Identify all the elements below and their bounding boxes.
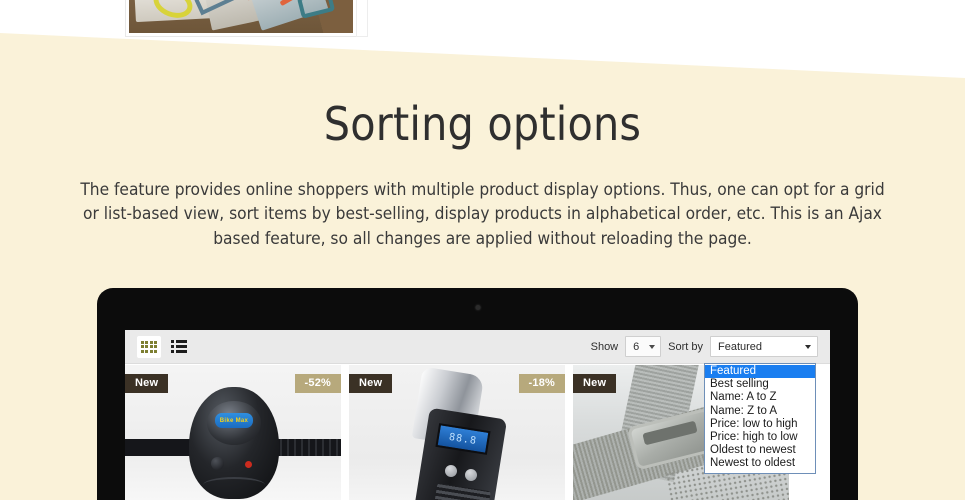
- show-count-value: 6: [633, 341, 639, 353]
- sort-option-name-a-z[interactable]: Name: A to Z: [705, 391, 815, 404]
- laptop-mockup: Show 6 Sort by Featured: [97, 288, 858, 500]
- device-lcd-text: 88.8: [448, 431, 477, 446]
- previous-section-photo: [126, 0, 356, 36]
- sort-dropdown-list[interactable]: Featured Best selling Name: A to Z Name:…: [704, 363, 816, 474]
- sort-by-label: Sort by: [668, 341, 703, 353]
- chevron-down-icon: [805, 345, 811, 349]
- grid-view-button[interactable]: [137, 336, 161, 358]
- page-stage: Sorting options The feature provides onl…: [0, 0, 965, 500]
- grid-icon: [141, 341, 158, 353]
- sort-option-oldest-newest[interactable]: Oldest to newest: [705, 444, 815, 457]
- status-badge-discount: -52%: [295, 374, 341, 393]
- page-title: Sorting options: [0, 97, 965, 151]
- device-knob: [211, 457, 224, 470]
- sort-option-price-high-low[interactable]: Price: high to low: [705, 431, 815, 444]
- sort-by-select[interactable]: Featured: [710, 336, 818, 357]
- list-view-button[interactable]: [167, 336, 191, 358]
- section-description: The feature provides online shoppers wit…: [77, 178, 889, 251]
- toolbox-photo: [129, 0, 353, 33]
- status-badge-new: New: [125, 374, 168, 393]
- device-screen-text: Bike Max: [220, 418, 248, 424]
- sort-option-newest-oldest[interactable]: Newest to oldest: [705, 457, 815, 470]
- status-badge-discount: -18%: [519, 374, 565, 393]
- previous-section-photo-edge: [357, 0, 367, 36]
- view-mode-switch: [137, 336, 191, 358]
- sort-option-price-low-high[interactable]: Price: low to high: [705, 418, 815, 431]
- chevron-down-icon: [649, 345, 655, 349]
- status-badge-new: New: [349, 374, 392, 393]
- status-badge-new: New: [573, 374, 616, 393]
- laptop-screen: Show 6 Sort by Featured: [125, 330, 830, 500]
- sort-option-name-z-a[interactable]: Name: Z to A: [705, 405, 815, 418]
- device-screen: Bike Max: [215, 413, 253, 428]
- product-card[interactable]: 88.8 New -18%: [349, 365, 565, 500]
- toolbar-controls: Show 6 Sort by Featured: [591, 336, 818, 357]
- device-led: [245, 461, 252, 468]
- device-wave: [203, 477, 265, 493]
- show-label: Show: [591, 341, 619, 353]
- webcam-icon: [475, 305, 480, 310]
- product-card[interactable]: Bike Max New -52%: [125, 365, 341, 500]
- show-count-select[interactable]: 6: [625, 336, 661, 357]
- sort-by-value: Featured: [718, 341, 762, 353]
- teal-tool: [297, 0, 335, 19]
- sort-option-featured[interactable]: Featured: [705, 365, 815, 378]
- shop-toolbar: Show 6 Sort by Featured: [125, 330, 830, 364]
- sort-option-best-selling[interactable]: Best selling: [705, 378, 815, 391]
- list-icon: [171, 340, 187, 353]
